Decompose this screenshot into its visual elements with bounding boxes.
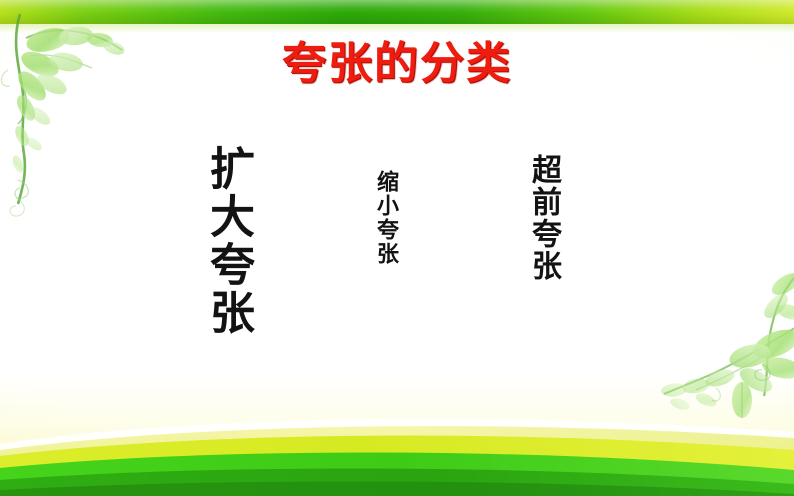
vertical-text-column-3: 超前夸张: [528, 154, 558, 282]
vertical-text-column-2: 缩小夸张: [374, 170, 396, 266]
vertical-text-column-1: 扩大夸张: [206, 145, 251, 337]
top-green-band: [0, 0, 794, 24]
presentation-slide: 夸张的分类 扩大夸张 缩小夸张 超前夸张: [0, 0, 794, 496]
page-title: 夸张的分类: [0, 38, 794, 90]
